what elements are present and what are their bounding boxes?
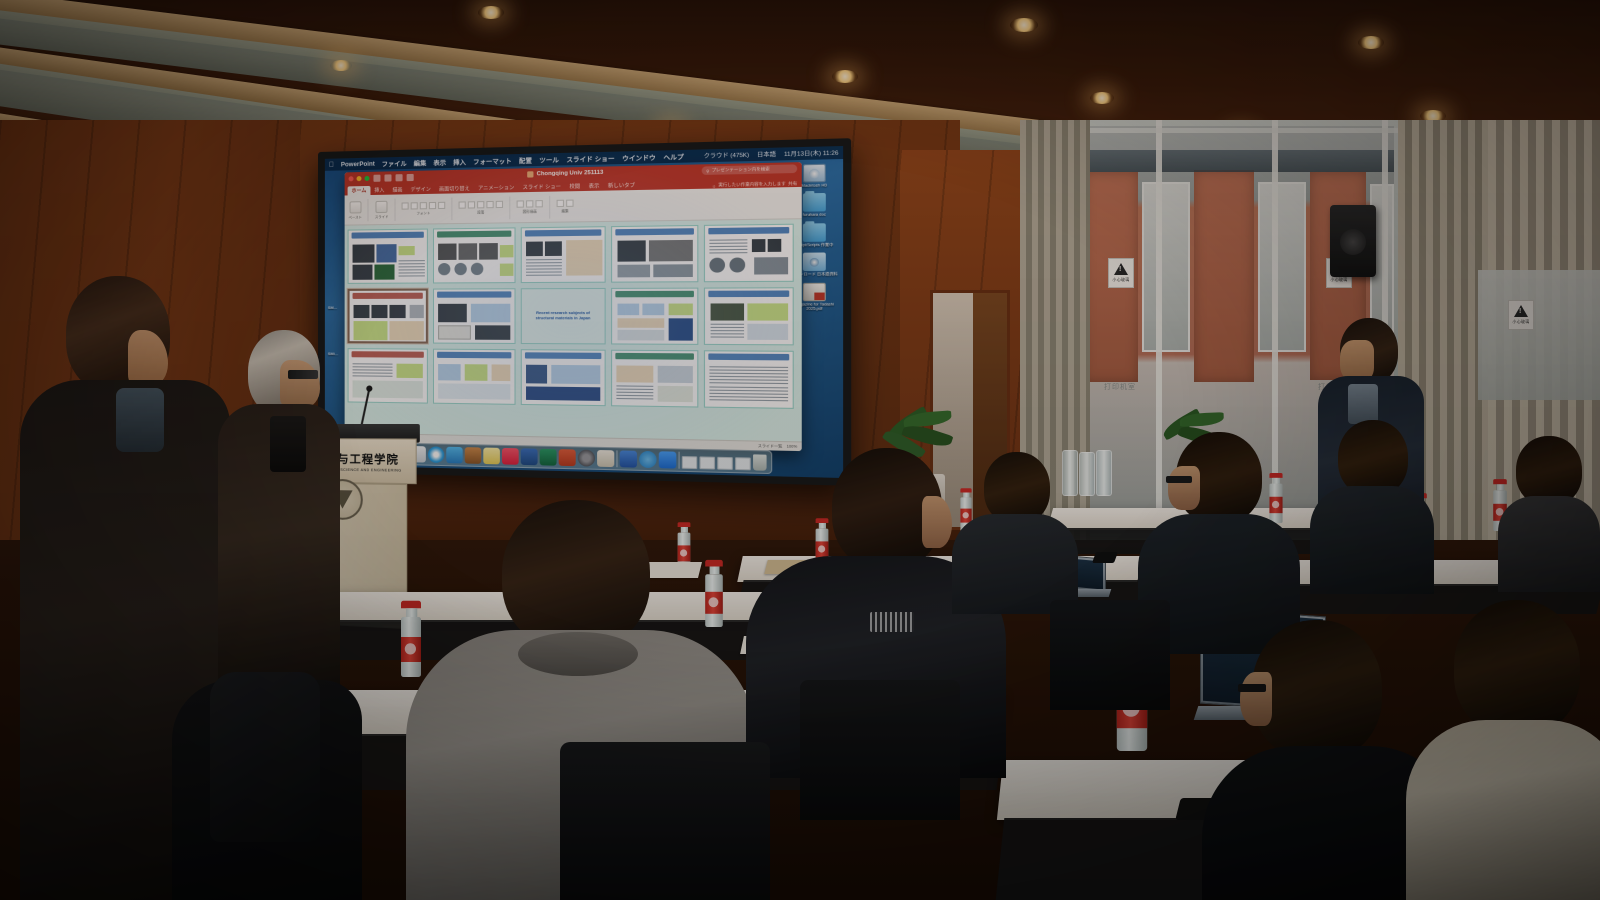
- tab-insert[interactable]: 挿入: [370, 186, 388, 195]
- tab-view[interactable]: 表示: [584, 181, 603, 191]
- music-icon[interactable]: [502, 448, 519, 465]
- document-icon: [527, 171, 533, 177]
- tab-home[interactable]: ホーム: [348, 186, 371, 196]
- slide-thumbnail[interactable]: 29: [611, 225, 698, 283]
- menu-item-window[interactable]: ウインドウ: [622, 152, 656, 162]
- numbering-icon[interactable]: [468, 201, 475, 208]
- eyeglasses-icon: [1238, 684, 1266, 692]
- slide-thumbnail[interactable]: 28: [521, 226, 606, 283]
- search-field[interactable]: ⚲ プレゼンテーション内を検索: [702, 164, 798, 175]
- italic-icon[interactable]: [411, 202, 418, 209]
- menu-item-edit[interactable]: 編集: [414, 158, 427, 167]
- tab-draw[interactable]: 描画: [388, 185, 406, 194]
- window-controls[interactable]: [349, 175, 370, 180]
- save-icon[interactable]: [384, 174, 391, 181]
- person-head: [1454, 600, 1580, 736]
- disk-image-icon: [803, 253, 826, 272]
- person-torso: [1498, 496, 1600, 592]
- person-torso: [1310, 486, 1434, 594]
- desktop-icon-label: furuhara doc: [803, 213, 826, 218]
- ribbon-group-label: 図形描画: [523, 208, 537, 213]
- slide-thumbnail[interactable]: 34: [611, 288, 698, 345]
- eyeglasses-icon: [1166, 476, 1192, 483]
- menubar-clock[interactable]: 11月13日(木) 11:26: [784, 148, 839, 158]
- person-torso: [1406, 720, 1600, 900]
- person-collar: [1348, 384, 1378, 424]
- exterior-window: [1258, 182, 1306, 352]
- notes-icon[interactable]: [483, 448, 500, 465]
- chair: [800, 680, 960, 820]
- person-shirt: [270, 416, 306, 472]
- person-torso: [952, 514, 1078, 614]
- menubar-input-source[interactable]: 日本語: [757, 150, 776, 159]
- warning-triangle-icon: [1514, 305, 1528, 317]
- slide-row: 36 37: [348, 348, 799, 409]
- menu-item-view[interactable]: 表示: [433, 157, 446, 166]
- system-settings-icon[interactable]: [578, 450, 595, 467]
- minimized-window-1[interactable]: [682, 456, 697, 469]
- ribbon-group-font[interactable]: フォント: [402, 202, 446, 216]
- folder-icon: [803, 193, 826, 212]
- exterior-window: [1142, 182, 1190, 352]
- preview-icon[interactable]: [597, 450, 614, 467]
- menu-item-insert[interactable]: 挿入: [453, 157, 466, 167]
- menubar-cloud-status[interactable]: クラウド (475K): [704, 150, 749, 160]
- hoodie-hood: [518, 632, 638, 676]
- dock-separator-2: [679, 452, 680, 469]
- person-collar: [116, 388, 164, 452]
- ribbon-group-slide[interactable]: スライド: [375, 200, 389, 218]
- warning-sign-label: 小心玻璃: [1512, 319, 1529, 325]
- ribbon-group-drawing[interactable]: 図形描画: [517, 200, 543, 214]
- far-right-glass: [1478, 270, 1600, 400]
- audience-far-right-2: [1498, 436, 1600, 586]
- bold-icon[interactable]: [402, 202, 409, 209]
- new-slide-icon[interactable]: [376, 200, 388, 212]
- app-store-icon[interactable]: [639, 451, 656, 468]
- align-right-icon[interactable]: [496, 201, 503, 208]
- shape-fill-icon[interactable]: [535, 200, 542, 207]
- chair: [560, 742, 770, 900]
- warning-triangle-icon: [1114, 263, 1128, 275]
- folder-icon: [803, 223, 826, 242]
- speaker-cone-icon: [1340, 229, 1366, 255]
- contacts-icon[interactable]: [465, 447, 482, 464]
- slide-thumbnail[interactable]: 35: [704, 287, 794, 345]
- ceiling-speaker: [1330, 205, 1376, 277]
- menu-item-file[interactable]: ファイル: [382, 158, 407, 168]
- menu-item-help[interactable]: ヘルプ: [663, 152, 683, 162]
- ribbon-group-label: 編集: [561, 208, 568, 213]
- lecture-hall-scene: 小心玻璃 小心玻璃 打印机室 打印机室 小心玻璃  PowerPoint ファ…: [0, 0, 1600, 900]
- menu-item-tools[interactable]: ツール: [539, 155, 559, 165]
- slide-thumbnail-title[interactable]: 33 Recent research subjects of structura…: [521, 288, 606, 345]
- paste-icon[interactable]: [349, 201, 361, 213]
- desktop-label-1: SM...: [328, 305, 337, 310]
- slide-row: 31 32: [348, 287, 799, 345]
- desktop-icon-label: Macintosh HD: [801, 183, 827, 188]
- ribbon-group-paste[interactable]: ペースト: [349, 201, 362, 219]
- person-head: [1338, 420, 1408, 496]
- ribbon-group-label: ペースト: [349, 214, 362, 219]
- eyeglasses-icon: [288, 370, 318, 379]
- mail-icon[interactable]: [446, 447, 462, 464]
- slide-thumbnail[interactable]: 27: [433, 227, 516, 283]
- find-icon[interactable]: [557, 200, 564, 207]
- person-face: [1240, 672, 1272, 726]
- slide-thumbnail[interactable]: 36: [348, 348, 428, 403]
- font-color-icon[interactable]: [438, 202, 445, 209]
- person-face: [922, 496, 952, 548]
- word-icon[interactable]: [521, 448, 538, 465]
- chair: [1050, 600, 1170, 710]
- tab-review[interactable]: 校閲: [565, 182, 584, 192]
- ceiling-light: [1358, 36, 1384, 49]
- audience-far-right-1: [1310, 420, 1434, 590]
- minimized-window-3[interactable]: [717, 457, 733, 470]
- ribbon-group-label: スライド: [375, 213, 389, 218]
- ceiling-light: [330, 60, 352, 71]
- minimized-window-2[interactable]: [699, 456, 715, 469]
- close-icon[interactable]: [349, 176, 354, 181]
- excel-icon[interactable]: [540, 449, 557, 466]
- undo-icon[interactable]: [396, 174, 403, 181]
- slide-thumbnail[interactable]: 30: [704, 224, 794, 283]
- ceiling-light: [1010, 18, 1038, 32]
- ribbon-group-label: 段落: [477, 209, 484, 214]
- hard-drive-icon: [803, 164, 826, 183]
- slide-thumbnail[interactable]: 32: [433, 288, 516, 344]
- redo-icon[interactable]: [407, 173, 414, 180]
- menu-item-arrange[interactable]: 配置: [519, 155, 532, 165]
- apple-menu-icon[interactable]: : [329, 161, 334, 168]
- slide-row: 26 27: [348, 224, 799, 284]
- audience-mid-left: [952, 452, 1078, 612]
- bullets-icon[interactable]: [459, 201, 466, 208]
- underline-icon[interactable]: [420, 202, 427, 209]
- keynote-icon[interactable]: [620, 450, 637, 467]
- slide-sorter-pane[interactable]: 26 27: [345, 219, 802, 441]
- replace-icon[interactable]: [566, 200, 573, 207]
- shapes-icon[interactable]: [517, 200, 524, 207]
- slide-title-text: Recent research subjects of structural m…: [522, 311, 605, 322]
- menu-app-name[interactable]: PowerPoint: [341, 160, 375, 168]
- ribbon-group-editing[interactable]: 編集: [557, 200, 574, 214]
- align-center-icon[interactable]: [486, 201, 493, 208]
- new-slide-icon[interactable]: [373, 174, 380, 181]
- audience-bottom-far-right: [1406, 600, 1600, 900]
- window-decal-left: 打印机室: [1104, 382, 1136, 392]
- zoom-icon[interactable]: [659, 451, 677, 468]
- pdf-icon: [803, 283, 826, 301]
- minimize-icon[interactable]: [357, 176, 362, 181]
- warning-sign: 小心玻璃: [1508, 300, 1534, 330]
- lightbulb-icon: ☼: [712, 183, 716, 188]
- dock-separator: [616, 450, 617, 467]
- menu-item-format[interactable]: フォーマット: [473, 156, 512, 166]
- person-face: [1168, 466, 1200, 510]
- search-icon: ⚲: [706, 168, 709, 173]
- jacket-logo: [870, 612, 914, 632]
- strikethrough-icon[interactable]: [429, 202, 436, 209]
- slide-thumbnail[interactable]: 38: [521, 349, 606, 406]
- ribbon-group-label: フォント: [416, 210, 430, 215]
- ceiling-light: [478, 6, 504, 19]
- ceiling-light: [832, 70, 858, 83]
- slide-thumbnail-selected[interactable]: 31: [348, 289, 428, 344]
- zoom-window-icon[interactable]: [364, 175, 369, 180]
- person-head: [502, 500, 650, 650]
- slide-thumbnail[interactable]: 26: [348, 229, 428, 284]
- slide-thumbnail[interactable]: 40: [704, 350, 794, 409]
- document-title-group: Chongqing Univ 251113: [527, 170, 603, 178]
- backpack: [210, 672, 320, 842]
- ribbon-group-paragraph[interactable]: 段落: [459, 201, 503, 215]
- slide-thumbnail[interactable]: 39: [611, 350, 698, 408]
- document-title: Chongqing Univ 251113: [537, 170, 604, 178]
- menu-item-slideshow[interactable]: スライド ショー: [566, 153, 614, 164]
- slide-thumbnail[interactable]: 37: [433, 349, 516, 405]
- warning-sign-label: 小心玻璃: [1112, 277, 1129, 283]
- align-left-icon[interactable]: [477, 201, 484, 208]
- smartphone[interactable]: [1092, 552, 1118, 563]
- window-mullion: [1060, 128, 1400, 133]
- safari-icon[interactable]: [428, 446, 444, 463]
- presenter: [218, 330, 340, 690]
- search-placeholder: プレゼンテーション内を検索: [712, 166, 770, 174]
- warning-sign: 小心玻璃: [1108, 258, 1134, 288]
- ceiling-light: [1090, 92, 1114, 104]
- powerpoint-icon[interactable]: [559, 449, 576, 466]
- warning-sign-label: 小心玻璃: [1330, 277, 1347, 283]
- arrange-icon[interactable]: [526, 200, 533, 207]
- powerpoint-window[interactable]: Chongqing Univ 251113 ⚲ プレゼンテーション内を検索 ホー…: [345, 162, 802, 451]
